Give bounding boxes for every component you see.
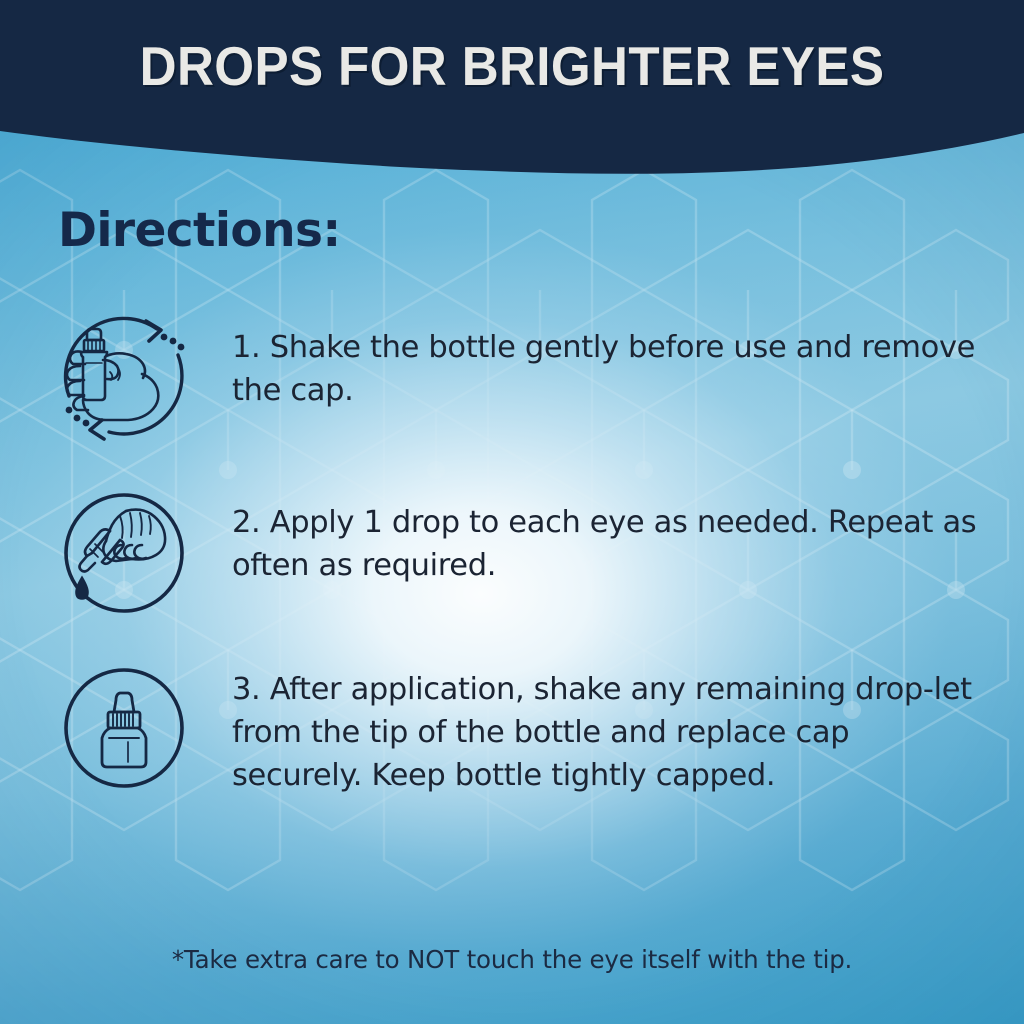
hand-squeezing-dropper-icon (54, 483, 194, 623)
page-title: DROPS FOR BRIGHTER EYES (36, 0, 988, 132)
step-text: 2. Apply 1 drop to each eye as needed. R… (232, 501, 988, 587)
directions-heading: Directions: (58, 203, 341, 258)
step-text: 1. Shake the bottle gently before use an… (232, 326, 988, 412)
step-text: 3. After application, shake any remainin… (232, 668, 988, 797)
footnote-text: *Take extra care to NOT touch the eye it… (0, 945, 1024, 974)
hand-shaking-bottle-icon (54, 308, 194, 448)
product-directions-poster: DROPS FOR BRIGHTER EYES Directions: (0, 0, 1024, 1024)
capped-dropper-bottle-icon (54, 658, 194, 798)
